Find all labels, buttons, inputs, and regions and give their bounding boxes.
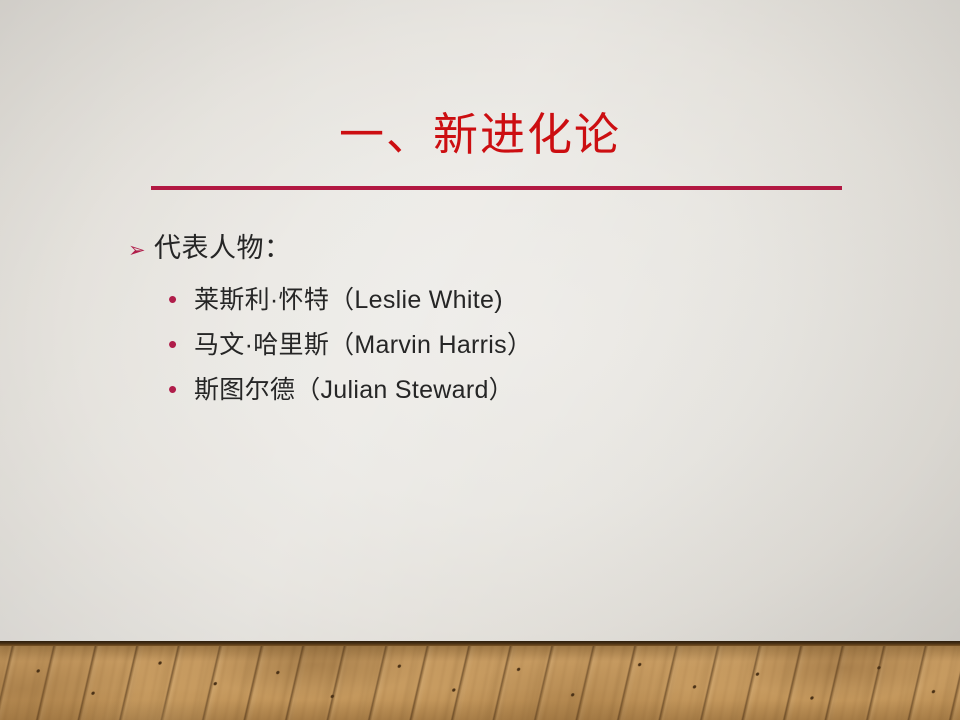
dot-bullet-icon: • <box>168 322 194 366</box>
arrow-bullet-icon: ➢ <box>128 231 154 271</box>
list-item-level1: ➢ 代表人物： <box>128 228 900 271</box>
list-item-label: 马文·哈里斯（Marvin Harris） <box>194 323 532 367</box>
presentation-slide: 一、新进化论 ➢ 代表人物： • 莱斯利·怀特（Leslie White) • … <box>0 0 960 720</box>
slide-title: 一、新进化论 <box>0 110 960 160</box>
title-underline-rule <box>151 186 842 190</box>
dot-bullet-icon: • <box>168 367 194 411</box>
list-item: • 马文·哈里斯（Marvin Harris） <box>128 322 900 367</box>
list-item-label: 莱斯利·怀特（Leslie White) <box>194 278 503 322</box>
floor-vignette <box>0 641 960 720</box>
sub-list: • 莱斯利·怀特（Leslie White) • 马文·哈里斯（Marvin H… <box>128 277 900 412</box>
list-item-label: 斯图尔德（Julian Steward） <box>194 368 514 412</box>
floor-edge-shadow <box>0 641 960 646</box>
slide-body: ➢ 代表人物： • 莱斯利·怀特（Leslie White) • 马文·哈里斯（… <box>128 228 900 412</box>
dot-bullet-icon: • <box>168 277 194 321</box>
list-item-level1-label: 代表人物： <box>154 228 292 268</box>
list-item: • 斯图尔德（Julian Steward） <box>128 367 900 412</box>
wood-plank-floor <box>0 641 960 720</box>
list-item: • 莱斯利·怀特（Leslie White) <box>128 277 900 322</box>
